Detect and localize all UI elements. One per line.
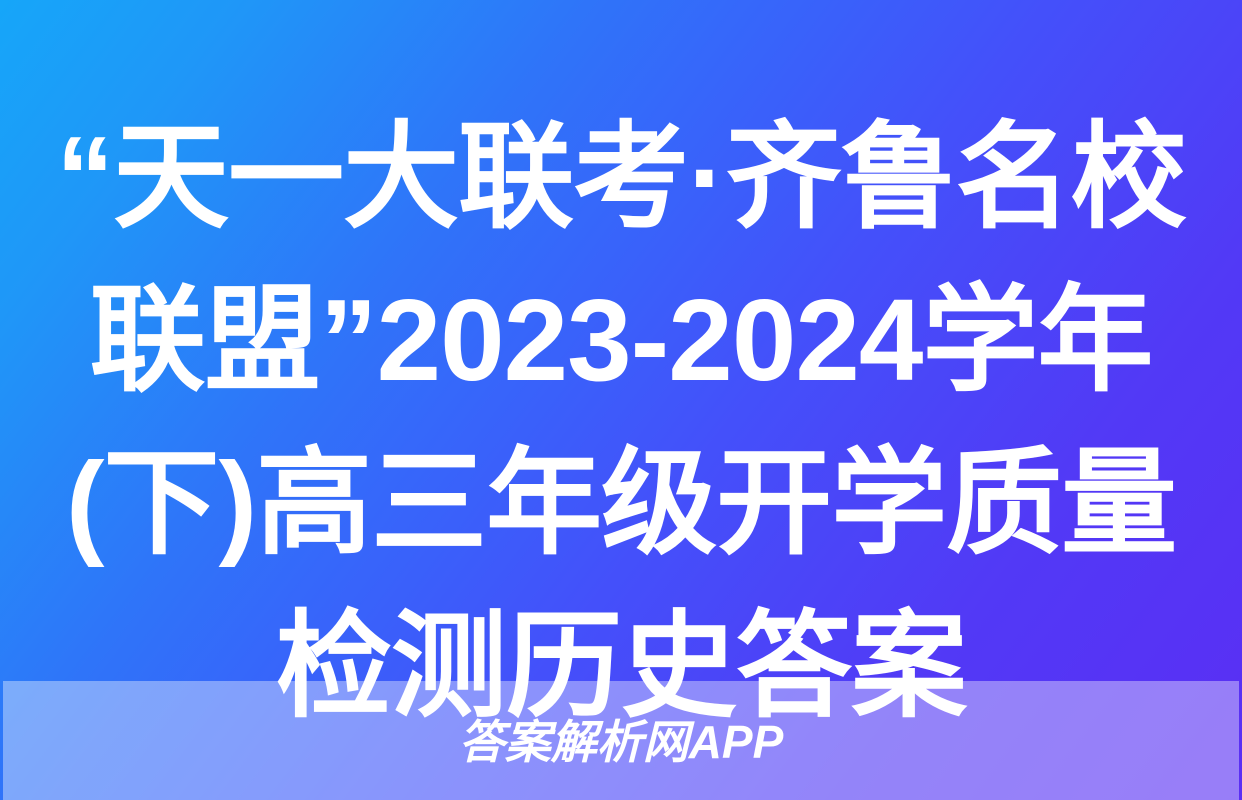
title-block: “天一大联考·齐鲁名校联盟”2023-2024学年(下)高三年级开学质量检测历史… <box>0 96 1242 748</box>
poster-canvas: “天一大联考·齐鲁名校联盟”2023-2024学年(下)高三年级开学质量检测历史… <box>0 0 1242 800</box>
watermark-band: 答案解析网APP <box>3 681 1239 800</box>
app-watermark: 答案解析网APP <box>459 719 784 765</box>
page-title: “天一大联考·齐鲁名校联盟”2023-2024学年(下)高三年级开学质量检测历史… <box>56 96 1186 748</box>
